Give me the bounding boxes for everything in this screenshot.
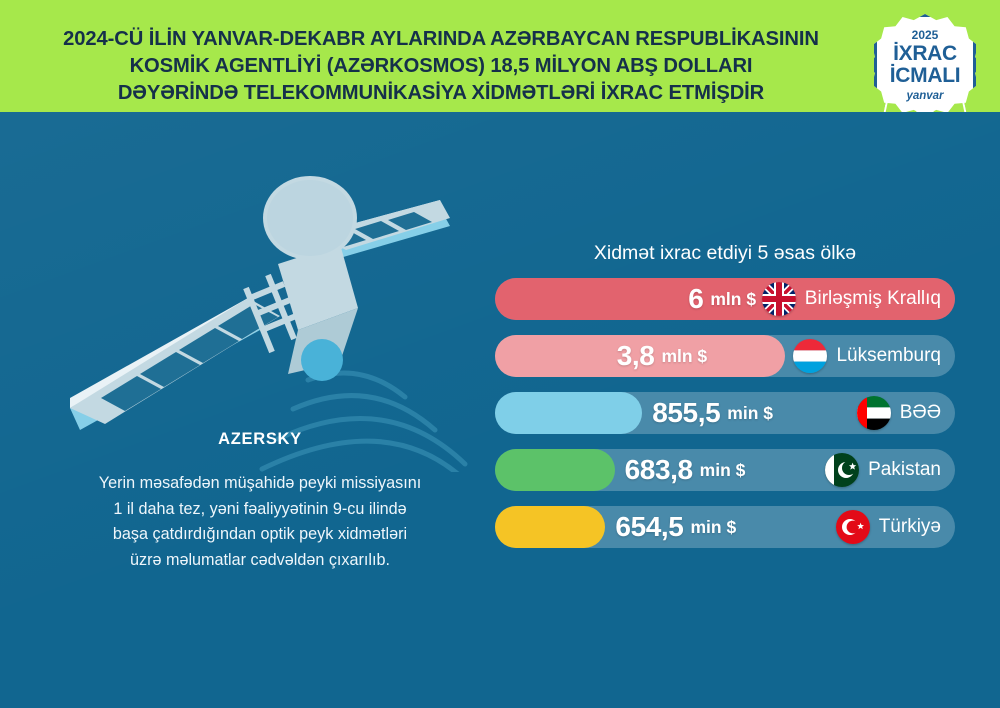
bar-fill [495,506,605,548]
bar-row-uk[interactable]: 6 mln $ Birləşmiş Krallıq [495,278,955,320]
azersky-title: AZERSKY [40,430,480,449]
bar-value-number: 683,8 [625,454,693,486]
bar-value-unit: min $ [727,403,773,424]
country-name: Pakistan [868,459,941,481]
flag-pakistan-icon [825,453,859,487]
chart-title: Xidmət ixrac etdiyi 5 əsas ölkə [495,242,955,265]
country-label-group: Pakistan [825,449,941,491]
infographic-page: 2024-CÜ İLİN YANVAR-DEKABR AYLARINDA AZƏ… [0,0,1000,708]
flag-turkiye-icon [836,510,870,544]
country-name: BƏƏ [900,402,941,424]
export-review-badge: 2025 İXRAC İCMALI yanvar [858,6,990,112]
bar-value: 6 mln $ [688,278,756,320]
bar-row-pakistan[interactable]: 683,8 min $ Pakistan [495,449,955,491]
country-label-group: BƏƏ [857,392,941,434]
country-bar-chart: 6 mln $ Birləşmiş Krallıq [495,278,955,563]
country-name: Türkiyə [879,516,941,538]
bar-value-number: 6 [688,283,703,315]
bar-value-number: 654,5 [615,511,683,543]
bar-value-number: 855,5 [652,397,720,429]
badge-rosette: 2025 İXRAC İCMALI yanvar [874,14,976,112]
bar-value-unit: min $ [700,460,746,481]
bar-value-unit: mln $ [661,346,707,367]
bar-value: 3,8 mln $ [617,335,707,377]
bar-value: 855,5 min $ [652,392,773,434]
country-label-group: Lüksemburq [793,335,941,377]
country-label-group: Birləşmiş Krallıq [762,278,941,320]
badge-month: yanvar [906,90,943,102]
country-name: Birləşmiş Krallıq [805,288,941,310]
country-name: Lüksemburq [836,345,941,367]
bar-value: 654,5 min $ [615,506,736,548]
azersky-description: Yerin məsafədən müşahidə peyki missiyası… [40,471,480,573]
page-title: 2024-CÜ İLİN YANVAR-DEKABR AYLARINDA AZƏ… [26,26,856,107]
flag-luxembourg-icon [793,339,827,373]
flag-united-arab-emirates-icon [857,396,891,430]
bar-row-luxembourg[interactable]: 3,8 mln $ Lüksemburq [495,335,955,377]
bar-fill [495,449,615,491]
bar-row-uae[interactable]: 855,5 min $ BƏƏ [495,392,955,434]
bar-value-unit: mln $ [710,289,756,310]
badge-line-2: İCMALI [890,65,961,87]
header-banner: 2024-CÜ İLİN YANVAR-DEKABR AYLARINDA AZƏ… [0,0,1000,112]
satellite-icon [10,112,480,472]
country-label-group: Türkiyə [836,506,941,548]
main-panel: AZERSKY Yerin məsafədən müşahidə peyki m… [0,112,1000,708]
badge-year: 2025 [912,29,939,42]
badge-line-1: İXRAC [893,43,957,65]
bar-value-unit: min $ [690,517,736,538]
bar-row-turkiye[interactable]: 654,5 min $ Türkiyə [495,506,955,548]
bar-fill [495,392,642,434]
azersky-note: AZERSKY Yerin məsafədən müşahidə peyki m… [40,430,480,573]
bar-value-number: 3,8 [617,340,655,372]
flag-united-kingdom-icon [762,282,796,316]
bar-value: 683,8 min $ [625,449,746,491]
